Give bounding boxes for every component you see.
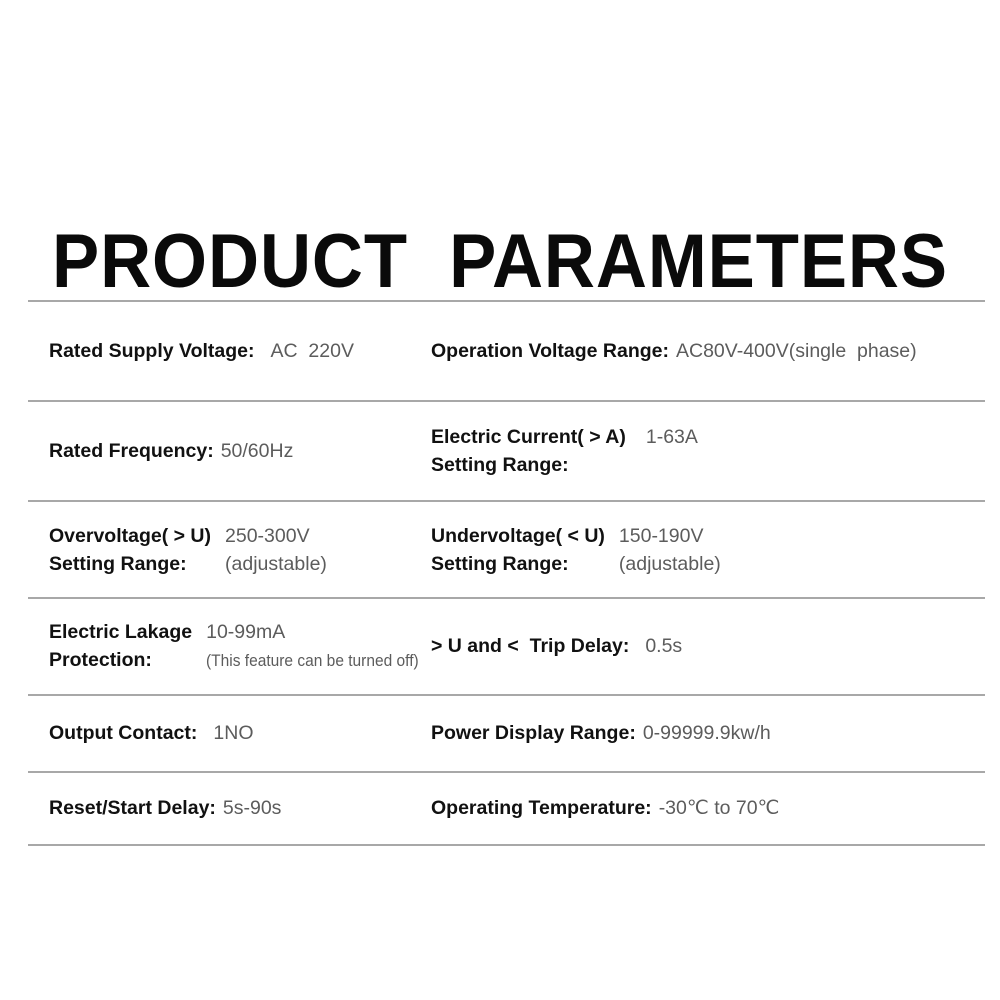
spec-cell-electric-lakage-protection: Electric LakageProtection: 10-99mA(This … [28, 618, 428, 675]
spec-cell-electric-current-setting-range: Electric Current( > A)Setting Range: 1-6… [428, 423, 985, 479]
spec-value: 1-63A [646, 423, 698, 451]
spec-cell-power-display-range: Power Display Range: 0-99999.9kw/h [428, 721, 985, 746]
table-row: Output Contact: 1NO Power Display Range:… [28, 696, 985, 771]
spec-value: -30℃ to 70℃ [659, 796, 780, 821]
product-parameters-page: PRODUCT PARAMETERS Rated Supply Voltage:… [0, 0, 1000, 1000]
spec-cell-rated-frequency: Rated Frequency: 50/60Hz [28, 439, 428, 464]
spec-cell-rated-supply-voltage: Rated Supply Voltage: AC 220V [28, 339, 428, 364]
table-row: Reset/Start Delay: 5s-90s Operating Temp… [28, 773, 985, 844]
spec-value: 250-300V(adjustable) [225, 522, 327, 578]
spec-label: Overvoltage( > U)Setting Range: [49, 522, 211, 578]
table-row: Electric LakageProtection: 10-99mA(This … [28, 599, 985, 694]
spec-cell-operating-temperature: Operating Temperature: -30℃ to 70℃ [428, 796, 985, 821]
spec-label: Rated Supply Voltage: [49, 339, 255, 364]
spec-label: Power Display Range: [431, 721, 636, 746]
spec-value: 50/60Hz [221, 439, 294, 464]
spec-value: 10-99mA(This feature can be turned off) [206, 618, 432, 675]
spec-cell-undervoltage-setting-range: Undervoltage( < U)Setting Range: 150-190… [428, 522, 985, 578]
spec-value: 150-190V(adjustable) [619, 522, 721, 578]
spec-cell-overvoltage-setting-range: Overvoltage( > U)Setting Range: 250-300V… [28, 522, 428, 578]
spec-label: > U and < Trip Delay: [431, 634, 629, 659]
spec-value: 5s-90s [223, 796, 282, 821]
spec-cell-output-contact: Output Contact: 1NO [28, 721, 428, 746]
spec-label: Rated Frequency: [49, 439, 214, 464]
table-row: Rated Supply Voltage: AC 220V Operation … [28, 302, 985, 400]
spec-label: Undervoltage( < U)Setting Range: [431, 522, 605, 578]
spec-value: 1NO [213, 721, 253, 746]
spec-cell-operation-voltage-range: Operation Voltage Range: AC80V-400V(sing… [428, 339, 985, 364]
spec-cell-reset-start-delay: Reset/Start Delay: 5s-90s [28, 796, 428, 821]
spec-value: AC80V-400V(single phase) [676, 339, 917, 364]
spec-value: 0-99999.9kw/h [643, 721, 771, 746]
spec-label: Operating Temperature: [431, 796, 652, 821]
table-row: Overvoltage( > U)Setting Range: 250-300V… [28, 502, 985, 597]
spec-value: 0.5s [645, 634, 682, 659]
spec-label: Reset/Start Delay: [49, 796, 216, 821]
page-title: PRODUCT PARAMETERS [35, 219, 965, 305]
spec-label: Electric Current( > A)Setting Range: [431, 423, 626, 479]
spec-table: Rated Supply Voltage: AC 220V Operation … [28, 300, 985, 846]
spec-label: Output Contact: [49, 721, 197, 746]
table-row: Rated Frequency: 50/60Hz Electric Curren… [28, 402, 985, 500]
spec-cell-trip-delay: > U and < Trip Delay: 0.5s [428, 634, 985, 659]
spec-label: Electric LakageProtection: [49, 618, 192, 674]
spec-label: Operation Voltage Range: [431, 339, 669, 364]
spec-value: AC 220V [271, 339, 354, 364]
table-divider-bottom [28, 844, 985, 846]
